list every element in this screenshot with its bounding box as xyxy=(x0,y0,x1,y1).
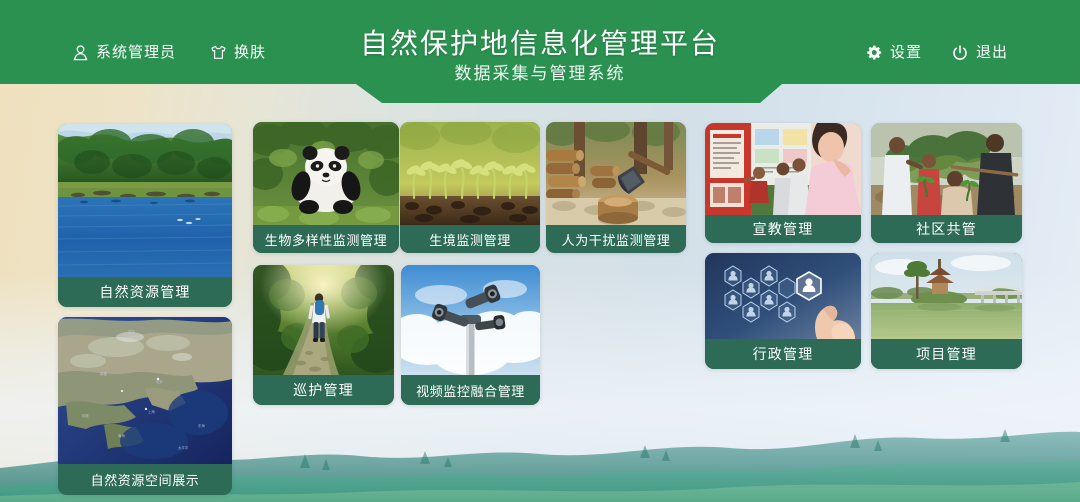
exhibition-visitors-photo xyxy=(705,123,861,215)
tile-label: 生境监测管理 xyxy=(400,225,540,253)
gear-icon xyxy=(866,44,883,61)
community-planting-photo xyxy=(871,123,1022,215)
satellite-map-photo: 蒙古新疆 北京上海 东海南海 太平洋印度 xyxy=(58,317,232,464)
tile-label: 巡护管理 xyxy=(253,375,394,405)
hexagon-people-network-photo xyxy=(705,253,861,339)
nav-item-logout-label: 退出 xyxy=(976,45,1008,60)
tile-biodiversity-monitoring-management[interactable]: 生物多样性监测管理 xyxy=(253,122,399,253)
tile-project-management[interactable]: 项目管理 xyxy=(871,253,1022,369)
tile-education-publicity-management[interactable]: 宣教管理 xyxy=(705,123,861,243)
axe-logging-photo xyxy=(546,122,686,225)
app-header: 系统管理员 换肤 自然保护地信息化管理平台 数据采集与管理系统 xyxy=(0,0,1080,104)
tile-label: 人为干扰监测管理 xyxy=(546,225,686,253)
svg-text:新疆: 新疆 xyxy=(100,371,107,376)
svg-text:南海: 南海 xyxy=(118,433,125,438)
svg-text:印度: 印度 xyxy=(82,413,89,418)
nav-item-logout[interactable]: 退出 xyxy=(952,44,1008,61)
tile-natural-resource-spatial-display[interactable]: 蒙古新疆 北京上海 东海南海 太平洋印度 自然资源空间展示 xyxy=(58,317,232,495)
tile-administrative-management[interactable]: 行政管理 xyxy=(705,253,861,369)
tile-video-surveillance-integration-management[interactable]: 视频监控融合管理 xyxy=(401,265,540,405)
tile-habitat-monitoring-management[interactable]: 生境监测管理 xyxy=(400,122,540,253)
tile-natural-resource-management[interactable]: 自然资源管理 xyxy=(58,124,232,307)
svg-text:上海: 上海 xyxy=(148,409,155,414)
lakeside-pavilion-photo xyxy=(871,253,1022,339)
power-icon xyxy=(952,44,969,61)
tile-community-co-management[interactable]: 社区共管 xyxy=(871,123,1022,243)
cctv-camera-photo xyxy=(401,265,540,375)
tile-label: 社区共管 xyxy=(871,215,1022,243)
svg-text:东海: 东海 xyxy=(198,423,205,428)
seedlings-photo xyxy=(400,122,540,225)
tile-human-disturbance-monitoring-management[interactable]: 人为干扰监测管理 xyxy=(546,122,686,253)
forest-trail-hiker-photo xyxy=(253,265,394,375)
tile-label: 自然资源空间展示 xyxy=(58,464,232,495)
tile-label: 行政管理 xyxy=(705,339,861,369)
page-subtitle: 数据采集与管理系统 xyxy=(0,64,1080,84)
svg-text:太平洋: 太平洋 xyxy=(178,445,189,450)
tile-label: 视频监控融合管理 xyxy=(401,375,540,405)
app-root: 系统管理员 换肤 自然保护地信息化管理平台 数据采集与管理系统 xyxy=(0,0,1080,502)
nav-item-settings-label: 设置 xyxy=(890,45,922,60)
tile-label: 自然资源管理 xyxy=(58,277,232,307)
tile-patrol-management[interactable]: 巡护管理 xyxy=(253,265,394,405)
lake-wetland-photo xyxy=(58,124,232,277)
panda-photo xyxy=(253,122,399,225)
nav-item-settings[interactable]: 设置 xyxy=(866,44,922,61)
svg-text:蒙古: 蒙古 xyxy=(128,329,135,334)
header-nav-right: 设置 退出 xyxy=(866,44,1008,61)
tile-label: 项目管理 xyxy=(871,339,1022,369)
tile-label: 生物多样性监测管理 xyxy=(253,225,399,253)
tile-label: 宣教管理 xyxy=(705,215,861,243)
